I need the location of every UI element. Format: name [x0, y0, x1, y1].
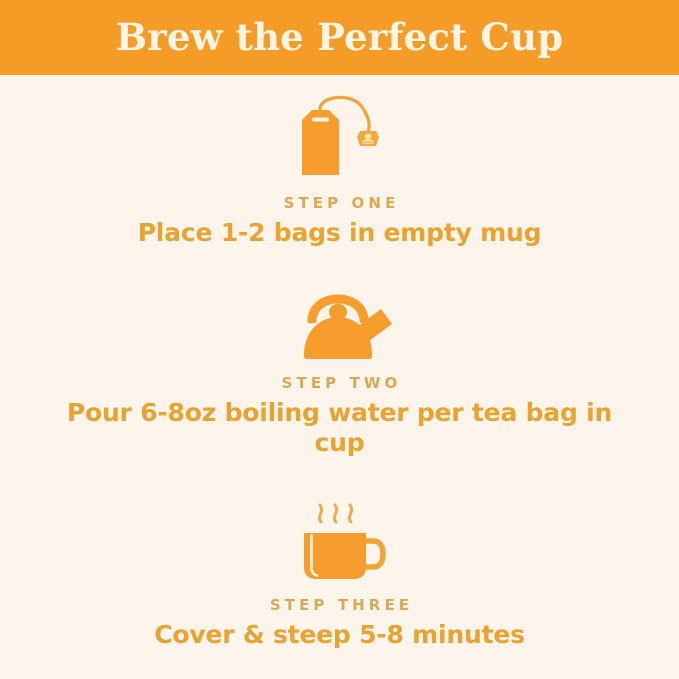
step-three-label: STEP THREE: [266, 598, 413, 613]
kettle-icon: [280, 279, 400, 365]
step-item-two: STEP TWO Pour 6-8oz boiling water per te…: [0, 279, 679, 459]
page-title: Brew the Perfect Cup: [116, 19, 564, 56]
step-two-label: STEP TWO: [278, 376, 402, 391]
step-one-text: Place 1-2 bags in empty mug: [138, 218, 542, 249]
steaming-mug-icon: [280, 492, 400, 587]
header-banner: Brew the Perfect Cup: [0, 0, 679, 75]
tea-bag-icon: [280, 93, 400, 185]
step-one-label: STEP ONE: [280, 196, 400, 211]
steps-list: STEP ONE Place 1-2 bags in empty mug STE…: [0, 75, 679, 679]
step-item-one: STEP ONE Place 1-2 bags in empty mug: [0, 93, 679, 249]
step-item-three: STEP THREE Cover & steep 5-8 minutes: [0, 492, 679, 651]
step-three-text: Cover & steep 5-8 minutes: [154, 620, 525, 651]
step-two-text: Pour 6-8oz boiling water per tea bag in …: [60, 398, 620, 459]
brewing-instructions-card: Brew the Perfect Cup STEP ONE: [0, 0, 679, 679]
